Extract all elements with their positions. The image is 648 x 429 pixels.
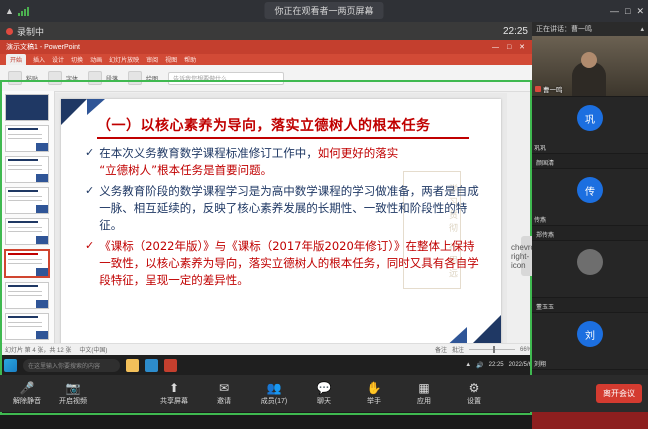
avatar: 刘 [577,321,603,347]
titlebar-right: — □ ✕ [610,0,644,22]
language-label[interactable]: 中文(中国) [79,345,107,354]
title-bar: ▲ 你正在观看者一两页屏幕 — □ ✕ [0,0,648,22]
window-minimize-button[interactable]: — [610,6,619,16]
bullet-0-seg-0: 在本次义务教育数学课程标准修订工作中， [99,146,318,160]
tile-name-label: 巩巩 [534,143,546,152]
active-speaker-header: 正在讲话：曹一鸣 ▴ [532,22,648,36]
participant-row[interactable]: 郑传燕 [532,226,648,241]
share-screen-icon: ⬆ [169,382,179,394]
slide-bullet: ✓ 义务教育阶段的数学课程学习是为高中数学课程的学习做准备，两者是自成一脉、相互… [85,183,483,234]
ribbon-group-label-3: 绘图 [146,74,158,83]
avatar: 传 [577,177,603,203]
participant-row[interactable]: 董玉玉 [532,298,648,313]
tile-name-label: 董玉玉 [534,302,554,311]
slide-title: （一）以核心素养为导向，落实立德树人的根本任务 [97,115,477,135]
windows-start-icon[interactable] [4,359,17,372]
toolbar-chat-label: 聊天 [317,396,331,406]
ribbon-search-input[interactable]: 告诉我您想要做什么 [168,72,284,85]
toolbar-unmute-label: 解除静音 [13,396,41,406]
slide-thumbnail[interactable] [5,156,49,183]
toolbar-raise-hand-label: 举手 [367,396,381,406]
signal-bars-icon [18,6,29,16]
toolbar-members-button[interactable]: 👥 成员(17) [251,382,297,406]
ribbon-tab-6[interactable]: 审阅 [146,55,158,64]
check-icon: ✓ [85,145,94,179]
slide-editing-area[interactable]: 学习贯彻 行思远 （一）以核心素养为导向，落实立德树人的根本任务 ✓ 在本次义务… [55,93,507,355]
raise-hand-icon: ✋ [367,382,382,394]
slide-body: ✓ 在本次义务教育数学课程标准修订工作中，如何更好的落实“立德树人”根本任务是首… [85,145,483,293]
powerpoint-window-title: 演示文稿1 - PowerPoint [0,42,80,52]
edge-browser-icon[interactable] [145,359,158,372]
active-speaker-label: 正在讲话：曹一鸣 [536,24,592,34]
avatar: 巩 [577,105,603,131]
video-tile-speaker[interactable]: 曹一鸣 [532,36,648,97]
taskbar-date[interactable]: 2022/5/6 [509,362,532,368]
tile-name-label: 颜国清 [534,158,554,167]
toolbar-share-screen-button[interactable]: ⬆ 共享屏幕 [151,382,197,406]
powerpoint-ribbon-tabs[interactable]: 开始 插入 设计 切换 动画 幻灯片放映 审阅 视图 帮助 [0,54,538,65]
powerpoint-ribbon[interactable]: 粘贴 字体 段落 绘图 告诉我您想要做什么 [0,65,540,92]
members-icon: 👥 [267,382,282,394]
titlebar-left-icons: ▲ [0,6,29,16]
toolbar-invite-button[interactable]: ✉ 邀请 [201,382,247,406]
powerpoint-taskbar-icon[interactable] [164,359,177,372]
recording-indicator[interactable]: 录制中 [0,25,44,38]
toolbar-share-label: 共享屏幕 [160,396,188,406]
ribbon-group-label-1: 字体 [66,74,78,83]
mic-icon [535,86,541,92]
toolbar-start-video-label: 开启视频 [59,396,87,406]
ribbon-tab-4[interactable]: 动画 [90,55,102,64]
tile-name-label: 曹一鸣 [535,84,563,94]
slide-thumbnail-pane[interactable] [0,91,55,378]
shared-screen-region: 演示文稿1 - PowerPoint — □ ✕ 开始 插入 设计 切换 动画 … [0,40,532,375]
decor-corner-top-left [61,99,87,125]
slide-thumbnail[interactable] [5,187,49,214]
video-tile-avatar[interactable]: 刘 刘翔 [532,313,648,370]
toolbar-apps-button[interactable]: ▦ 应用 [401,382,447,406]
camera-off-icon: 📷 [66,382,81,394]
tile-name-label: 刘翔 [534,359,546,368]
video-tile-avatar[interactable]: 传 传燕 [532,169,648,226]
ribbon-tab-5[interactable]: 幻灯片放映 [109,55,139,64]
decor-corner-top-left-2 [87,99,105,115]
video-tile-avatar-grey[interactable] [532,241,648,298]
slide-title-underline [97,137,469,139]
window-close-button[interactable]: ✕ [636,6,644,17]
ribbon-tab-3[interactable]: 切换 [71,55,83,64]
powerpoint-title-bar: 演示文稿1 - PowerPoint — □ ✕ [0,40,532,54]
bullet-0-seg-2: “立德树人”根本任务是首要问题。 [99,163,272,177]
collapse-panel-handle[interactable]: chevron-right-icon [521,236,532,276]
taskbar-tray[interactable]: ▲ 🔊 22:25 2022/5/6 [465,362,532,369]
slide-thumbnail[interactable] [5,282,49,309]
paste-icon[interactable] [8,71,22,85]
toolbar-chat-button[interactable]: 💬 聊天 [301,382,347,406]
toolbar-left-group[interactable]: 🎤 解除静音 📷 开启视频 [0,382,96,406]
ribbon-tab-8[interactable]: 帮助 [184,55,196,64]
avatar [577,249,603,275]
slide-thumbnail[interactable] [5,94,49,121]
meeting-app-window: ▲ 你正在观看者一两页屏幕 — □ ✕ 录制中 22:25 ▦ 演讲者视图 ▾ … [0,0,648,412]
screen-share-banner: 你正在观看者一两页屏幕 [264,2,383,19]
window-maximize-button[interactable]: □ [625,6,630,16]
slide-thumbnail-selected[interactable] [4,249,50,278]
ribbon-tab-7[interactable]: 视图 [165,55,177,64]
status-right-group[interactable]: 备注 批注 66% [435,345,532,354]
shapes-icon[interactable] [128,71,142,85]
taskbar-clock[interactable]: 22:25 [489,362,504,368]
slide-thumbnail[interactable] [5,125,49,152]
apps-icon: ▦ [418,382,429,394]
slide-bullet: ✓ 《课标（2022年版）》与《课标（2017年版2020年修订）》在整体上保持… [85,238,483,289]
toolbar-members-label: 成员(17) [261,396,287,406]
zoom-level-label: 66% [520,347,532,353]
tile-name-label: 郑传燕 [534,230,554,239]
ribbon-group-label-2: 段落 [106,74,118,83]
toolbar-center-group[interactable]: ⬆ 共享屏幕 ✉ 邀请 👥 成员(17) 💬 聊天 ✋ 举手 ▦ 应用 [151,382,497,406]
file-explorer-icon[interactable] [126,359,139,372]
toolbar-settings-button[interactable]: ⚙ 设置 [451,382,497,406]
bullet-2-text: 《课标（2022年版）》与《课标（2017年版2020年修订）》在整体上保持一致… [99,238,483,289]
slide-thumbnail[interactable] [5,218,49,245]
ribbon-group-drawing[interactable]: 绘图 [128,71,158,85]
windows-taskbar[interactable]: 在这里输入你要搜索的内容 ▲ 🔊 22:25 2022/5/6 [0,355,536,375]
meeting-clock: 22:25 [503,26,528,37]
powerpoint-status-bar: 幻灯片 第 4 张，共 12 张 中文(中国) 备注 批注 66% [0,343,537,355]
chat-icon: 💬 [317,382,332,394]
recording-label: 录制中 [17,25,44,38]
mic-muted-icon: 🎤 [20,382,35,394]
notes-button[interactable]: 备注 [435,345,447,354]
participant-row[interactable]: 颜国清 [532,154,648,169]
volume-icon[interactable]: 🔊 [476,362,483,369]
ribbon-group-paste[interactable]: 粘贴 [8,71,38,85]
comments-button[interactable]: 批注 [452,345,464,354]
ribbon-group-font[interactable]: 字体 [48,71,78,85]
ribbon-tab-0[interactable]: 开始 [6,54,26,65]
meeting-toolbar[interactable]: 🎤 解除静音 📷 开启视频 ⬆ 共享屏幕 ✉ 邀请 👥 成员(17) � [0,375,648,412]
toolbar-start-video-button[interactable]: 📷 开启视频 [50,382,96,406]
leave-meeting-button[interactable]: 离开会议 [596,384,642,403]
check-icon: ✓ [85,183,94,234]
taskbar-search-input[interactable]: 在这里输入你要搜索的内容 [23,359,120,372]
current-slide[interactable]: 学习贯彻 行思远 （一）以核心素养为导向，落实立德树人的根本任务 ✓ 在本次义务… [61,99,501,349]
toolbar-unmute-button[interactable]: 🎤 解除静音 [4,382,50,406]
slide-bullet: ✓ 在本次义务教育数学课程标准修订工作中，如何更好的落实“立德树人”根本任务是首… [85,145,483,179]
toolbar-invite-label: 邀请 [217,396,231,406]
zoom-slider[interactable] [469,349,515,350]
font-icon[interactable] [48,71,62,85]
toolbar-raise-hand-button[interactable]: ✋ 举手 [351,382,397,406]
gear-icon: ⚙ [469,382,480,394]
chevron-up-icon[interactable]: ▴ [640,25,644,33]
ribbon-group-paragraph[interactable]: 段落 [88,71,118,85]
ribbon-tab-1[interactable]: 插入 [33,55,45,64]
bullet-0-seg-1: 如何更好的落实 [318,146,399,160]
toolbar-right-group[interactable]: 离开会议 [596,384,642,403]
invite-icon: ✉ [219,382,229,394]
powerpoint-window-controls[interactable]: — □ ✕ [492,43,528,51]
toolbar-settings-label: 设置 [467,396,481,406]
record-dot-icon [6,28,13,35]
person-head-shape [581,52,597,68]
tile-name-label: 传燕 [534,215,546,224]
ribbon-tab-2[interactable]: 设计 [52,55,64,64]
ribbon-group-label-0: 粘贴 [26,74,38,83]
bullet-1-text: 义务教育阶段的数学课程学习是为高中数学课程的学习做准备，两者是自成一脉、相互延续… [99,183,483,234]
check-icon: ✓ [85,238,94,289]
toolbar-apps-label: 应用 [417,396,431,406]
slide-thumbnail[interactable] [5,313,49,340]
paragraph-icon[interactable] [88,71,102,85]
wifi-icon: ▲ [5,6,14,16]
participant-video-panel[interactable]: 正在讲话：曹一鸣 ▴ 曹一鸣 巩 巩巩 颜国清 传 传燕 [532,22,648,375]
slide-counter: 幻灯片 第 4 张，共 12 张 [5,345,71,354]
network-icon[interactable]: ▲ [465,362,471,368]
video-tile-avatar[interactable]: 巩 巩巩 [532,97,648,154]
